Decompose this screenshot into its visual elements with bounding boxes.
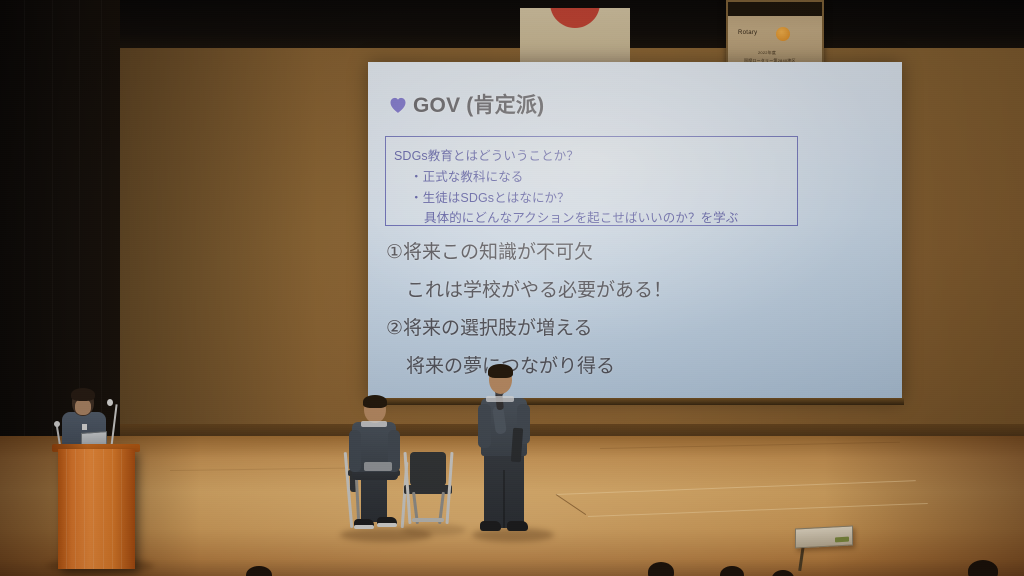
seated-student-hair: [363, 395, 387, 408]
wooden-podium: [58, 449, 135, 569]
podium-microphone-head-2: [54, 421, 60, 427]
slide-point-1-sub: これは学校がやる必要がある！: [406, 275, 672, 302]
slide-title-text: GOV (肯定派): [413, 89, 544, 119]
rotary-logo-icon: [776, 27, 790, 41]
standing-student-shoe: [480, 521, 501, 531]
standing-student-shoe: [507, 521, 528, 531]
podium-speaker-badge: [82, 424, 87, 430]
box-line-2: ・正式な教科になる: [410, 166, 523, 185]
presentation-slide: GOV (肯定派) SDGs教育とはどういうことか？ ・正式な教科になる ・生徒…: [368, 62, 902, 402]
podium-microphone-head: [107, 399, 113, 406]
podium-speaker-face: [75, 399, 91, 415]
slide-question-box: SDGs教育とはどういうことか？ ・正式な教科になる ・生徒はSDGsとはなにか…: [385, 136, 798, 226]
audience-head: [968, 560, 998, 576]
seated-student-papers: [364, 462, 392, 471]
certificate-line-1: 2022年度: [758, 50, 776, 56]
standing-student-hair: [488, 364, 513, 378]
seated-student-arm: [349, 430, 361, 472]
certificate-org-label: Rotary: [738, 30, 757, 36]
stage-scene: Rotary 2022年度 国際ロータリー第2840地区 GOV (肯定派) S…: [0, 0, 1024, 576]
audience-head: [648, 562, 674, 576]
left-curtain: [0, 0, 120, 470]
top-curtain: [0, 0, 1024, 48]
standing-student-arm: [478, 404, 491, 448]
box-line-1: SDGs教育とはどういうことか？: [394, 145, 579, 164]
screen-bottom-frame: [366, 398, 904, 405]
projector-lens-icon: [835, 537, 849, 543]
box-line-4: 具体的にどんなアクションを起こせばいいのか？を学ぶ: [424, 207, 738, 226]
box-line-3: ・生徒はSDGsとはなにか？: [410, 187, 570, 206]
slide-point-1: ①将来この知識が不可欠: [386, 237, 593, 264]
slide-title: GOV (肯定派): [388, 89, 544, 119]
podium-speaker-hair: [71, 388, 95, 401]
japanese-flag-banner: [520, 0, 630, 68]
standing-student-collar: [486, 396, 514, 402]
purple-heart-icon: [388, 95, 408, 114]
slide-point-2: ②将来の選択肢が増える: [386, 313, 592, 340]
seated-student-collar: [361, 421, 387, 427]
